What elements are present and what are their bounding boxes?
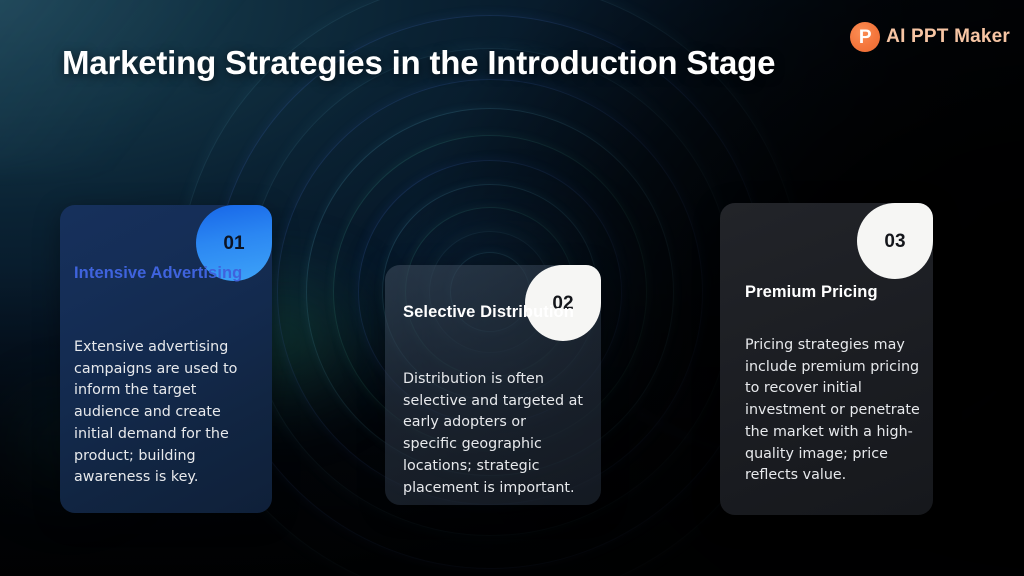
brand-logo-text: AI PPT Maker: [886, 26, 1010, 48]
page-title: Marketing Strategies in the Introduction…: [62, 44, 775, 82]
strategy-card-1-title: Intensive Advertising: [74, 264, 242, 283]
strategy-card-3-body: Pricing strategies may include premium p…: [745, 335, 920, 487]
strategy-card-1-inner: 01 Intensive Advertising Extensive adver…: [60, 205, 272, 513]
strategy-card-3-number-badge: 03: [857, 203, 933, 279]
top-left-streak: [0, 0, 260, 170]
strategy-card-2-body: Distribution is often selective and targ…: [403, 369, 583, 499]
strategy-card-2-inner: 02 Selective Distribution Distribution i…: [385, 265, 601, 505]
p-circle-logo-icon: P: [850, 22, 880, 52]
strategy-card-3[interactable]: 03 Premium Pricing Pricing strategies ma…: [720, 203, 933, 515]
strategy-card-2-title: Selective Distribution: [403, 303, 574, 322]
strategy-card-1-body: Extensive advertising campaigns are used…: [74, 337, 254, 489]
strategy-card-2[interactable]: 02 Selective Distribution Distribution i…: [385, 265, 601, 505]
strategy-card-3-inner: 03 Premium Pricing Pricing strategies ma…: [720, 203, 933, 515]
slide-canvas: Marketing Strategies in the Introduction…: [0, 0, 1024, 576]
strategy-card-1[interactable]: 01 Intensive Advertising Extensive adver…: [60, 205, 272, 513]
brand-logo[interactable]: P AI PPT Maker: [850, 22, 1010, 52]
strategy-card-3-title: Premium Pricing: [745, 283, 878, 302]
